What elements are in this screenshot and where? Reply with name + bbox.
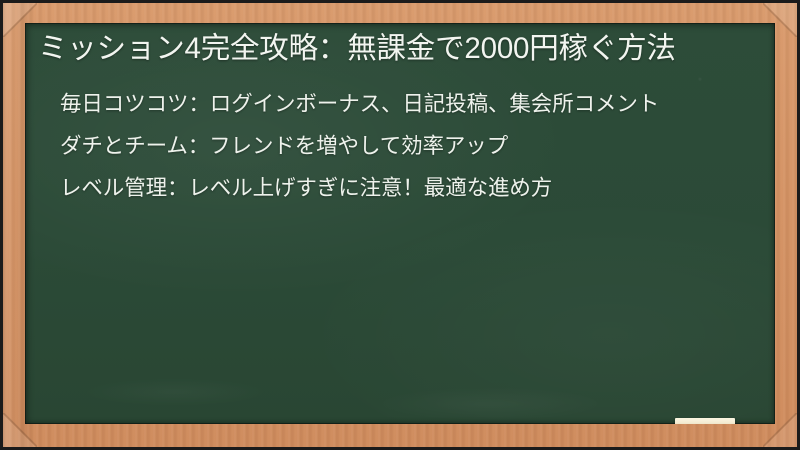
bullet-list: 毎日コツコツ：ログインボーナス、日記投稿、集会所コメント ダチとチーム：フレンド… xyxy=(38,88,757,204)
page-title: ミッション4完全攻略：無課金で2000円稼ぐ方法 xyxy=(38,28,757,70)
chalkboard-slide: ミッション4完全攻略：無課金で2000円稼ぐ方法 毎日コツコツ：ログインボーナス… xyxy=(0,0,800,450)
list-item: 毎日コツコツ：ログインボーナス、日記投稿、集会所コメント xyxy=(60,88,747,121)
list-item: ダチとチーム：フレンドを増やして効率アップ xyxy=(60,130,747,163)
chalkboard-surface: ミッション4完全攻略：無課金で2000円稼ぐ方法 毎日コツコツ：ログインボーナス… xyxy=(25,23,775,424)
chalk-stick-icon xyxy=(675,418,735,424)
slide-content: ミッション4完全攻略：無課金で2000円稼ぐ方法 毎日コツコツ：ログインボーナス… xyxy=(25,23,775,204)
list-item: レベル管理：レベル上げすぎに注意！最適な進め方 xyxy=(60,172,747,205)
